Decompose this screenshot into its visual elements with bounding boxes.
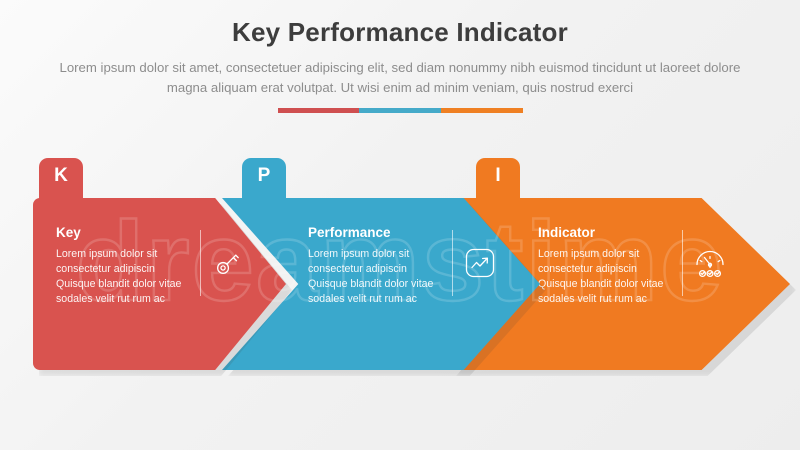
key-icon [201,230,255,296]
step-key-description: Lorem ipsum dolor sit consectetur adipis… [56,247,184,307]
page-title: Key Performance Indicator [0,0,800,48]
gauge-meter-icon [683,230,737,296]
page-subtitle: Lorem ipsum dolor sit amet, consectetuer… [50,58,750,99]
step-performance-description: Lorem ipsum dolor sit consectetur adipis… [308,247,436,307]
accent-bar [278,108,523,113]
step-indicator-description: Lorem ipsum dolor sit consectetur adipis… [538,247,666,307]
step-key[interactable]: K Key Lorem ipsum dolor sit consectetur … [33,158,286,388]
step-key-title: Key [56,226,184,241]
steps-row: I Indicator Lorem ipsum dolor sit consec… [0,158,800,388]
step-key-tab[interactable]: K [39,158,83,216]
infographic-canvas: Key Performance Indicator Lorem ipsum do… [0,0,800,450]
accent-segment-red [278,108,360,113]
step-key-letter: K [39,166,83,185]
step-performance-content: Performance Lorem ipsum dolor sit consec… [308,226,507,307]
step-performance-title: Performance [308,226,436,241]
header: Key Performance Indicator Lorem ipsum do… [0,0,800,113]
accent-segment-blue [359,108,441,113]
step-indicator-content: Indicator Lorem ipsum dolor sit consecte… [538,226,737,307]
step-key-content: Key Lorem ipsum dolor sit consectetur ad… [56,226,255,307]
step-indicator-title: Indicator [538,226,666,241]
accent-segment-orange [441,108,523,113]
trending-up-chart-icon [453,230,507,296]
